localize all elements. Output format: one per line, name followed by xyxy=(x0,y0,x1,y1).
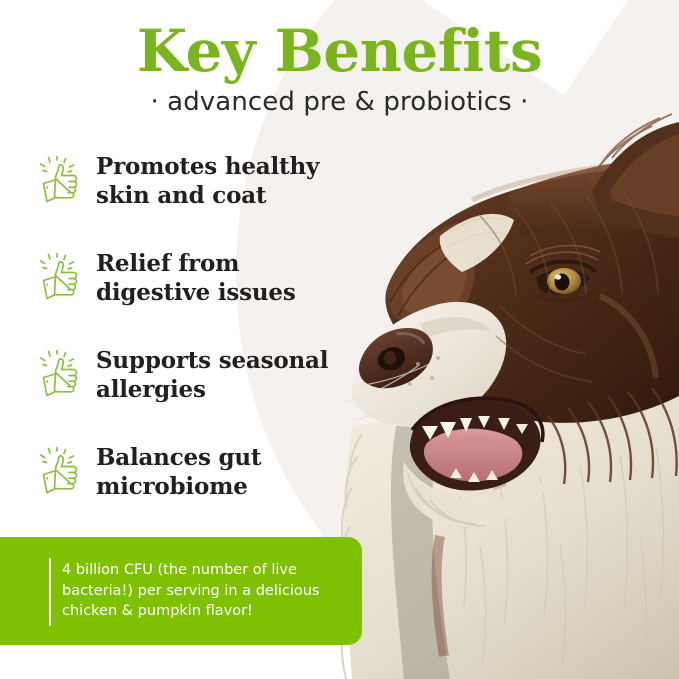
benefit-item-label: Relief from digestive issues xyxy=(96,247,358,308)
benefit-item: Relief from digestive issues xyxy=(34,247,364,344)
thumbs-up-icon xyxy=(34,253,82,303)
page-subtitle: · advanced pre & probiotics · xyxy=(0,87,679,117)
key-benefits-infographic: Key Benefits · advanced pre & probiotics… xyxy=(0,0,679,679)
thumbs-up-icon xyxy=(34,447,82,497)
page-title: Key Benefits xyxy=(0,22,679,81)
benefit-item-label: Promotes healthy skin and coat xyxy=(96,150,358,211)
callout-text: 4 billion CFU (the number of live bacter… xyxy=(62,560,348,622)
header: Key Benefits · advanced pre & probiotics… xyxy=(0,22,679,117)
thumbs-up-icon xyxy=(34,350,82,400)
benefit-item: Promotes healthy skin and coat xyxy=(34,150,364,247)
benefit-item: Balances gut microbiome xyxy=(34,441,364,538)
benefit-item-label: Balances gut microbiome xyxy=(96,441,358,502)
callout-divider-rule xyxy=(49,558,51,626)
benefit-item: Supports seasonal allergies xyxy=(34,344,364,441)
benefits-list: Promotes healthy skin and coat Relief fr… xyxy=(34,150,364,538)
cfu-callout-banner: 4 billion CFU (the number of live bacter… xyxy=(0,537,362,645)
thumbs-up-icon xyxy=(34,156,82,206)
benefit-item-label: Supports seasonal allergies xyxy=(96,344,358,405)
